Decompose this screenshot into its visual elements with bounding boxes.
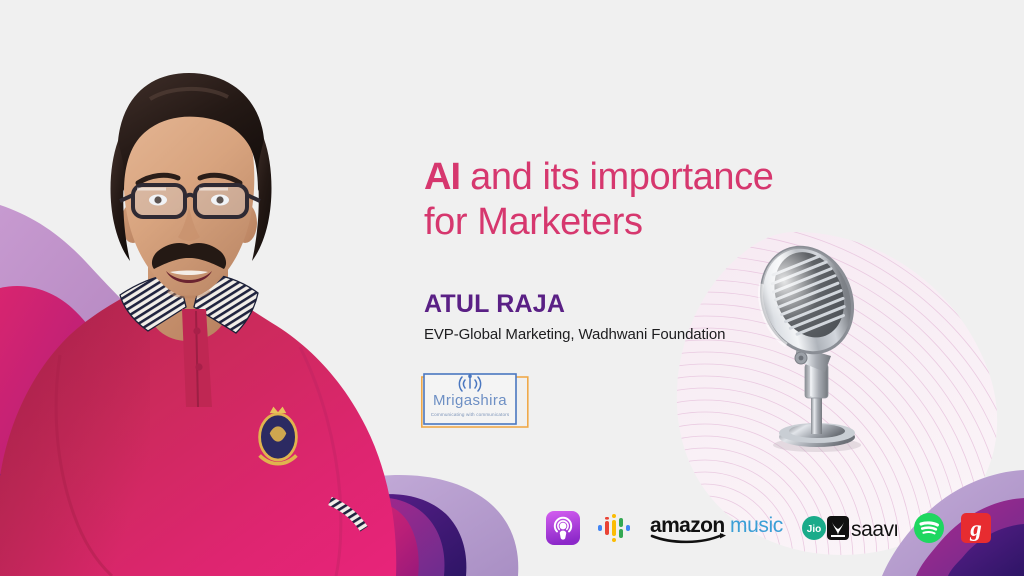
episode-title-rest: and its importance <box>460 156 773 198</box>
amazon-wordmark: amazon <box>650 514 725 537</box>
platform-link-spotify[interactable]: Spotify <box>914 508 944 548</box>
platform-link-google-podcasts[interactable]: Google Podcasts <box>597 508 633 548</box>
music-wordmark: music <box>730 514 783 537</box>
spotify-icon <box>914 513 944 543</box>
apple-podcasts-icon <box>546 511 580 545</box>
gaana-glyph: g <box>969 516 982 541</box>
gaana-icon: g <box>961 513 991 543</box>
episode-title: AI and its importancefor Marketers <box>424 155 844 245</box>
platform-link-amazon-music[interactable]: amazon music <box>650 508 784 548</box>
saavn-wordmark: saavn <box>851 518 897 541</box>
platform-link-jiosaavn[interactable]: Jio saavn <box>801 508 897 548</box>
platform-link-apple-podcasts[interactable]: Apple Podcasts <box>546 508 580 548</box>
google-podcasts-icon <box>597 513 633 543</box>
jiosaavn-icon: Jio saavn <box>801 513 897 543</box>
podcast-episode-banner: Portrait of Atul Raja wearing a crimson … <box>0 0 1024 576</box>
speaker-portrait: Portrait of Atul Raja wearing a crimson … <box>0 55 420 576</box>
amazon-music-icon: amazon music <box>650 511 784 545</box>
jio-badge: Jio <box>807 524 821 535</box>
mrigashira-brand-logo: Mrigashira Communicating with communicat… <box>421 371 529 429</box>
brand-name: Mrigashira <box>433 392 507 409</box>
podcast-platform-strip: Apple Podcasts Google Podcasts <box>546 505 991 551</box>
episode-title-lead: AI <box>424 156 460 198</box>
vintage-microphone-icon: Retro chrome podcast microphone on a rou… <box>735 238 895 456</box>
brand-tagline: Communicating with communicators <box>431 412 510 417</box>
platform-link-gaana[interactable]: Gaana g <box>961 508 991 548</box>
episode-title-line2: for Marketers <box>424 201 643 243</box>
